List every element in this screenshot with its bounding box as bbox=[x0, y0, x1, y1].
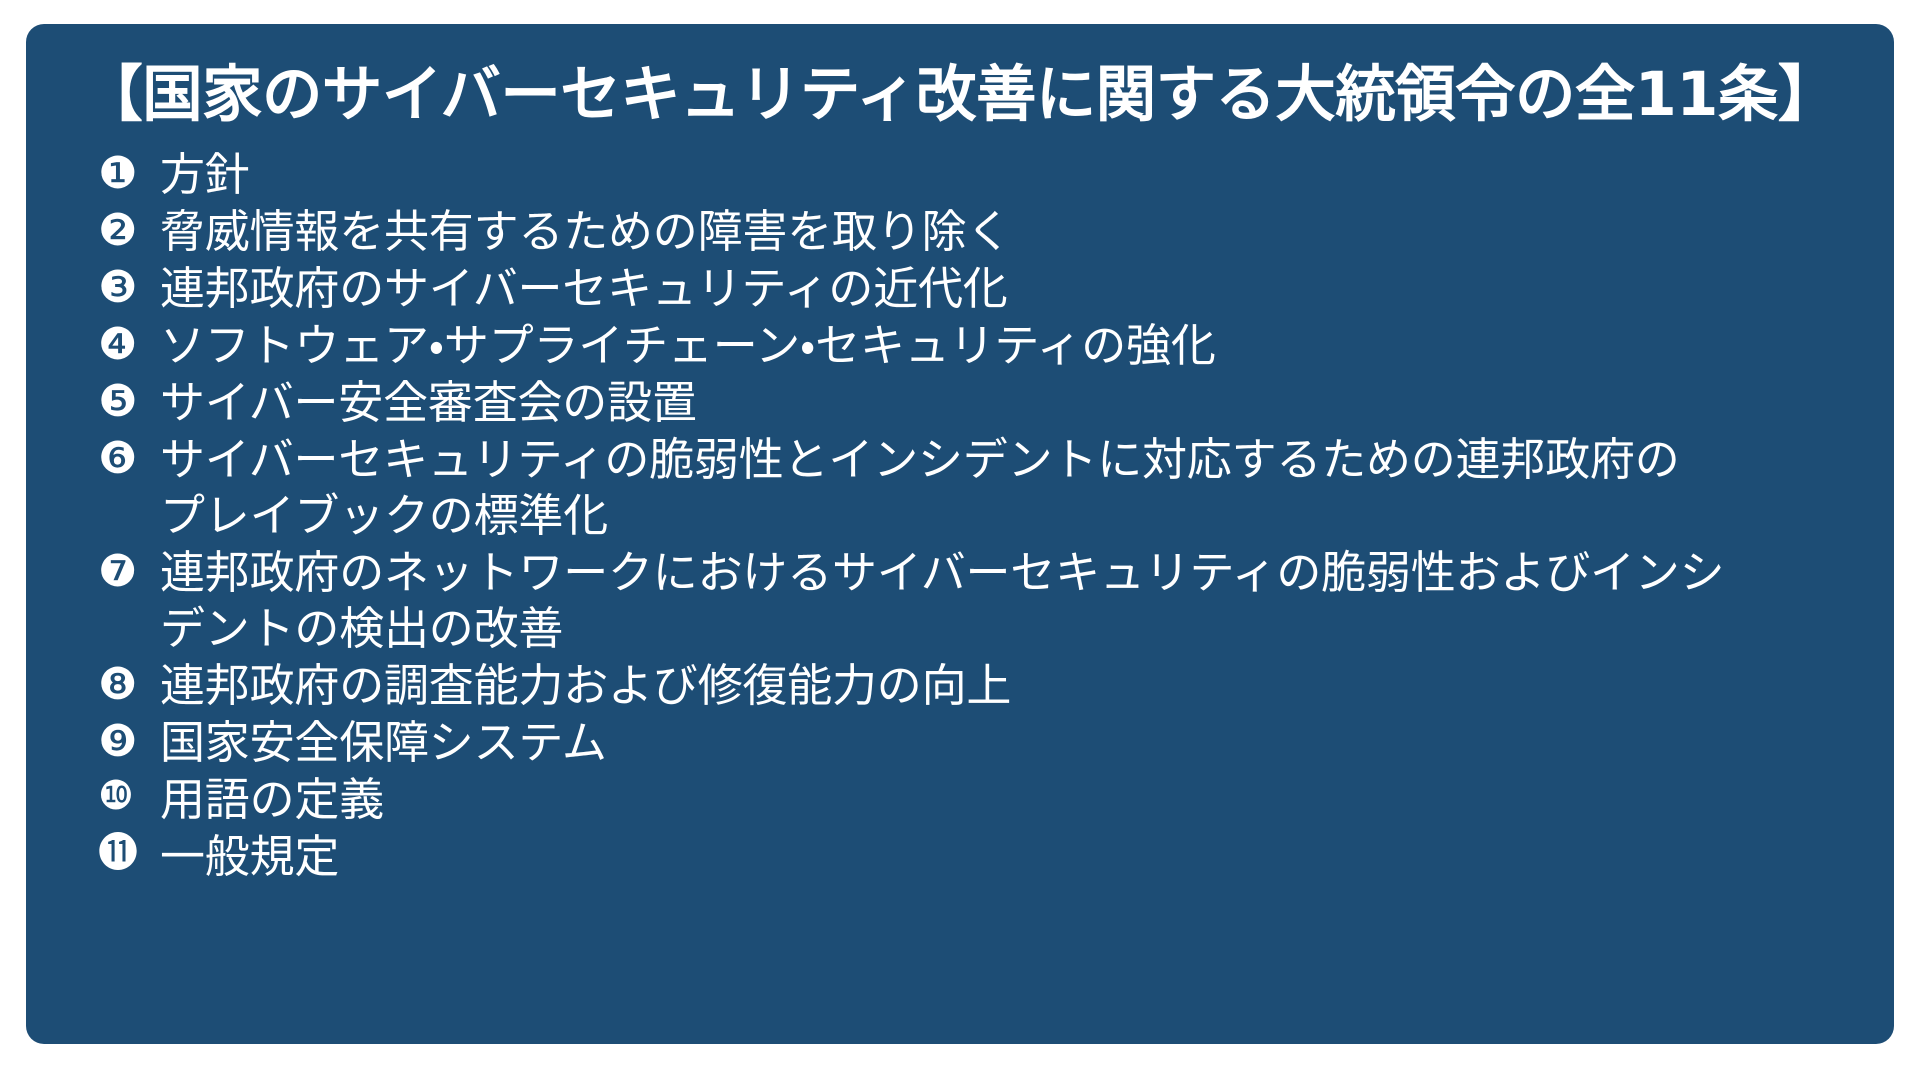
list-item: ❿ 用語の定義 bbox=[98, 772, 1854, 828]
list-marker-3: ❸ bbox=[98, 261, 160, 316]
list-marker-11: ⓫ bbox=[98, 829, 160, 879]
list-marker-7: ❼ bbox=[98, 545, 160, 600]
list-item-line-2: プレイブックの標準化 bbox=[160, 488, 1850, 544]
list-item-label-11: 一般規定 bbox=[160, 829, 1850, 885]
list-item: ❽ 連邦政府の調査能力および修復能力の向上 bbox=[98, 658, 1854, 714]
list-marker-8: ❽ bbox=[98, 658, 160, 713]
list-marker-5: ❺ bbox=[98, 375, 160, 430]
list-marker-10: ❿ bbox=[98, 772, 160, 822]
list-item-label-7: 連邦政府のネットワークにおけるサイバーセキュリティの脆弱性およびインシ デントの… bbox=[160, 545, 1850, 657]
list-item: ❺ サイバー安全審査会の設置 bbox=[98, 375, 1854, 431]
list-item: ❹ ソフトウェア・サプライチェーン・セキュリティの強化 bbox=[98, 318, 1854, 374]
list-marker-6: ❻ bbox=[98, 432, 160, 487]
list-item: ❶ 方針 bbox=[98, 147, 1854, 203]
list-item-label-5: サイバー安全審査会の設置 bbox=[160, 375, 1850, 431]
list-marker-4: ❹ bbox=[98, 318, 160, 373]
list-item: ❾ 国家安全保障システム bbox=[98, 715, 1854, 771]
list-item-label-9: 国家安全保障システム bbox=[160, 715, 1850, 771]
list-item-line-1: サイバーセキュリティの脆弱性とインシデントに対応するための連邦政府の bbox=[160, 433, 1680, 486]
slide-page: 【国家のサイバーセキュリティ改善に関する大統領令の全11条】 ❶ 方針 ❷ 脅威… bbox=[0, 0, 1920, 1080]
list-item: ❷ 脅威情報を共有するための障害を取り除く bbox=[98, 204, 1854, 260]
list-item-label-10: 用語の定義 bbox=[160, 772, 1850, 828]
list-item: ❼ 連邦政府のネットワークにおけるサイバーセキュリティの脆弱性およびインシ デン… bbox=[98, 545, 1854, 657]
list-item-line-2: デントの検出の改善 bbox=[160, 601, 1850, 657]
list-item-label-2: 脅威情報を共有するための障害を取り除く bbox=[160, 204, 1850, 260]
list-item-label-4: ソフトウェア・サプライチェーン・セキュリティの強化 bbox=[160, 318, 1850, 374]
list-item-label-8: 連邦政府の調査能力および修復能力の向上 bbox=[160, 658, 1850, 714]
article-list: ❶ 方針 ❷ 脅威情報を共有するための障害を取り除く ❸ 連邦政府のサイバーセキ… bbox=[66, 147, 1854, 885]
list-item-label-6: サイバーセキュリティの脆弱性とインシデントに対応するための連邦政府の プレイブッ… bbox=[160, 432, 1850, 544]
list-marker-9: ❾ bbox=[98, 715, 160, 770]
list-item: ❸ 連邦政府のサイバーセキュリティの近代化 bbox=[98, 261, 1854, 317]
list-item-line-1: 連邦政府のネットワークにおけるサイバーセキュリティの脆弱性およびインシ bbox=[160, 546, 1724, 599]
list-item: ❻ サイバーセキュリティの脆弱性とインシデントに対応するための連邦政府の プレイ… bbox=[98, 432, 1854, 544]
list-item-label-1: 方針 bbox=[160, 147, 1850, 203]
list-marker-2: ❷ bbox=[98, 204, 160, 259]
page-title: 【国家のサイバーセキュリティ改善に関する大統領令の全11条】 bbox=[75, 60, 1845, 131]
list-item: ⓫ 一般規定 bbox=[98, 829, 1854, 885]
content-card: 【国家のサイバーセキュリティ改善に関する大統領令の全11条】 ❶ 方針 ❷ 脅威… bbox=[26, 24, 1894, 1044]
list-item-label-3: 連邦政府のサイバーセキュリティの近代化 bbox=[160, 261, 1850, 317]
list-marker-1: ❶ bbox=[98, 147, 160, 202]
